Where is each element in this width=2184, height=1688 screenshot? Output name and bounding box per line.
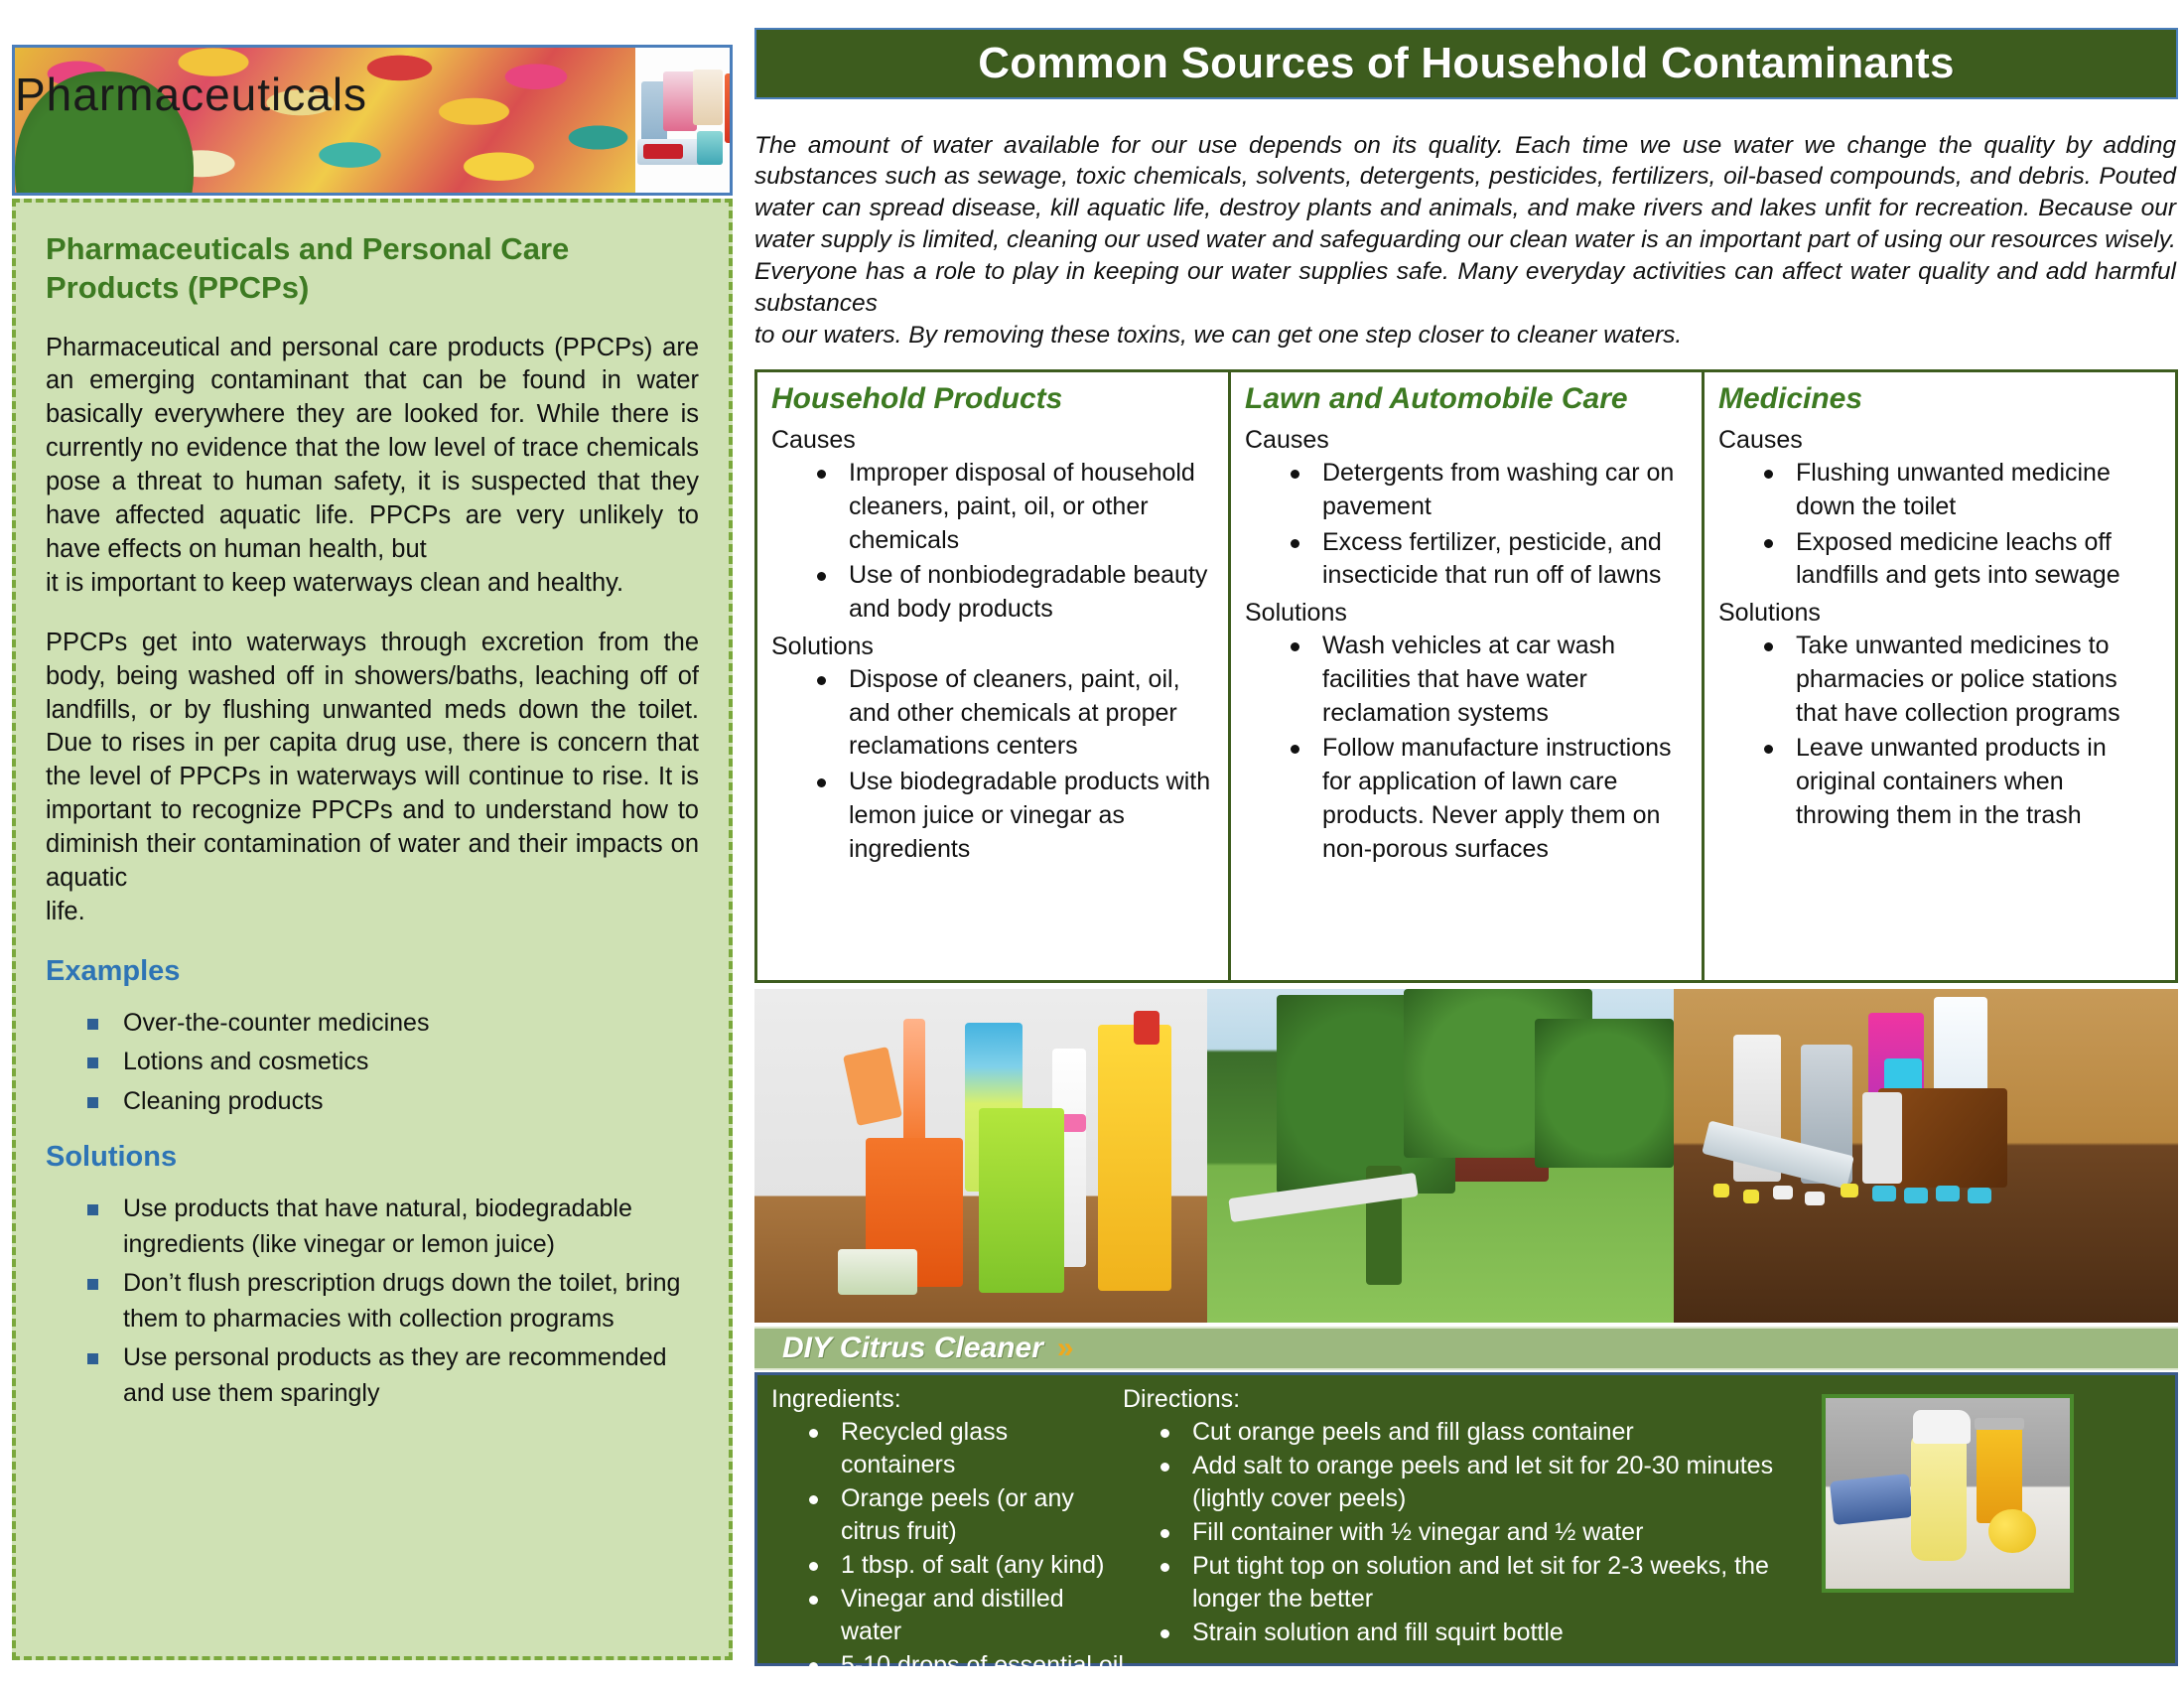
pill-shape [1713,1184,1729,1197]
list-item: Follow manufacture instructions for appl… [1273,732,1690,866]
solutions-list: Use products that have natural, biodegra… [46,1192,699,1411]
yellow-bottle-shape [1098,1025,1171,1291]
causes-label: Causes [1718,426,2163,455]
solutions-list: Wash vehicles at car wash facilities tha… [1245,630,1690,866]
spray-bottle-shape [1911,1434,1967,1561]
list-item: Dispose of cleaners, paint, oil, and oth… [799,663,1216,764]
photo-strip [754,989,2178,1323]
intro-paragraph: The amount of water available for our us… [754,130,2176,352]
examples-heading: Examples [46,955,699,988]
list-item: Orange peels (or any citrus fruit) [793,1482,1129,1548]
tree-shape [1535,1019,1674,1168]
diy-ingredients-column: Ingredients: Recycled glass containers O… [771,1385,1129,1683]
list-item: Use products that have natural, biodegra… [75,1192,699,1262]
orange-bottle-shape [725,73,730,143]
causes-list: Detergents from washing car on pavement … [1245,457,1690,593]
list-item: Use of nonbiodegradable beauty and body … [799,559,1216,627]
green-duster-shape [979,1108,1064,1293]
mason-jar-shape [1977,1424,2022,1523]
list-item: Leave unwanted products in original cont… [1746,732,2163,832]
list-item: Over-the-counter medicines [75,1006,699,1042]
sidebar-paragraph-2-main: PPCPs get into waterways through excreti… [46,629,699,892]
pill-shape [1841,1184,1858,1197]
sidebar-heading: Pharmaceuticals and Personal Care Produc… [46,230,699,308]
banner-title-line1: Pharmaceuticals [15,71,194,193]
list-item: 5-10 drops of essential oil [793,1649,1129,1682]
spray-trigger-shape [1913,1410,1971,1444]
category-title: Medicines [1718,382,2163,416]
list-item: Vinegar and distilled water [793,1583,1129,1648]
list-item: Recycled glass containers [793,1416,1129,1481]
causes-list: Flushing unwanted medicine down the toil… [1718,457,2163,593]
list-item: Excess fertilizer, pesticide, and insect… [1273,526,1690,594]
pills-and-bottles-photo [1674,989,2178,1323]
bottle-cap-shape [1862,1092,1902,1184]
ingredients-label: Ingredients: [771,1385,1129,1414]
diy-header-bar: DIY Citrus Cleaner » [754,1327,2178,1370]
double-chevron-right-icon: » [1057,1332,1072,1365]
list-item: Cleaning products [75,1084,699,1120]
box-shape [663,71,697,131]
list-item: Improper disposal of household cleaners,… [799,457,1216,557]
left-column: Pharmaceuticals and personal care produc… [0,0,743,1688]
pill-shape [1773,1186,1793,1199]
list-item: Detergents from washing car on pavement [1273,457,1690,524]
intro-paragraph-last: to our waters. By removing these toxins,… [754,320,2176,352]
pills-background-image: Pharmaceuticals and personal care produc… [15,48,635,193]
list-item: Take unwanted medicines to pharmacies or… [1746,630,2163,730]
pill-shape [1805,1192,1825,1205]
list-item: Put tight top on solution and let sit fo… [1145,1550,1818,1616]
sidebar-paragraph-1-main: Pharmaceutical and personal care product… [46,334,699,563]
right-column: Common Sources of Household Contaminants… [754,0,2184,1688]
list-item: Wash vehicles at car wash facilities tha… [1273,630,1690,730]
page-title-bar: Common Sources of Household Contaminants [754,28,2178,99]
jar-lid-shape [1975,1418,2024,1430]
list-item: 1 tbsp. of salt (any kind) [793,1549,1129,1582]
page-title: Common Sources of Household Contaminants [978,39,1954,88]
solutions-heading: Solutions [46,1141,699,1174]
sidebar-heading-line2: Products (PPCPs) [46,269,699,308]
intro-paragraph-main: The amount of water available for our us… [754,132,2176,317]
directions-list: Cut orange peels and fill glass containe… [1123,1416,1818,1649]
cloth-shape [843,1047,902,1126]
sidebar-paragraph-1-last: it is important to keep waterways clean … [46,567,699,601]
personal-care-products-photo [635,48,730,193]
blister-pack-shape [1936,1186,1960,1201]
solutions-label: Solutions [1718,599,2163,628]
lemon-shape [1988,1509,2036,1553]
ppcp-banner: Pharmaceuticals and personal care produc… [12,45,733,196]
blister-pack-shape [1872,1186,1896,1201]
examples-list: Over-the-counter medicines Lotions and c… [46,1006,699,1120]
causes-list: Improper disposal of household cleaners,… [771,457,1216,627]
lotion-shape [693,70,723,125]
list-item: Use biodegradable products with lemon ju… [799,766,1216,866]
diy-citrus-cleaner-photo [1822,1394,2074,1593]
spray-bottle-shape [903,1019,925,1148]
list-item: Lotions and cosmetics [75,1045,699,1080]
solutions-label: Solutions [1245,599,1690,628]
list-item: Fill container with ½ vinegar and ½ wate… [1145,1516,1818,1549]
category-column-medicines: Medicines Causes Flushing unwanted medic… [1705,372,2175,980]
solutions-label: Solutions [771,633,1216,661]
toothpaste-label-shape [643,144,683,159]
ingredients-list: Recycled glass containers Orange peels (… [771,1416,1129,1682]
mouthwash-shape [697,131,723,165]
list-item: Use personal products as they are recomm… [75,1340,699,1411]
sidebar-heading-line1: Pharmaceuticals and Personal Care [46,231,569,266]
sidebar-paragraph-1: Pharmaceutical and personal care product… [46,332,699,601]
directions-label: Directions: [1123,1385,1818,1414]
category-title: Lawn and Automobile Care [1245,382,1690,416]
list-item: Add salt to orange peels and let sit for… [1145,1450,1818,1515]
house-with-lawn-photo [1207,989,1674,1323]
causes-label: Causes [1245,426,1690,455]
pill-shape [1743,1190,1759,1203]
red-cap-shape [1134,1011,1160,1045]
list-item: Flushing unwanted medicine down the toil… [1746,457,2163,524]
category-title: Household Products [771,382,1216,416]
diy-directions-column: Directions: Cut orange peels and fill gl… [1123,1385,1818,1650]
solutions-list: Dispose of cleaners, paint, oil, and oth… [771,663,1216,867]
sidebar-paragraph-2-last: life. [46,896,699,929]
blister-pack-shape [1904,1188,1928,1203]
category-column-lawn-and-automobile-care: Lawn and Automobile Care Causes Detergen… [1231,372,1705,980]
causes-label: Causes [771,426,1216,455]
ppcp-sidebar-panel: Pharmaceuticals and Personal Care Produc… [12,199,733,1660]
blue-cloth-shape [1830,1474,1913,1525]
scrub-brush-shape [838,1249,917,1295]
solutions-list: Take unwanted medicines to pharmacies or… [1718,630,2163,833]
cleaning-supplies-photo [754,989,1207,1323]
list-item: Exposed medicine leachs off landfills an… [1746,526,2163,594]
categories-table: Household Products Causes Improper dispo… [754,369,2178,983]
diy-title: DIY Citrus Cleaner [782,1332,1043,1365]
blister-pack-shape [1968,1188,1991,1203]
category-column-household-products: Household Products Causes Improper dispo… [757,372,1231,980]
sidebar-paragraph-2: PPCPs get into waterways through excreti… [46,627,699,929]
banner-title: Pharmaceuticals and personal care produc… [15,71,635,193]
list-item: Cut orange peels and fill glass containe… [1145,1416,1818,1449]
list-item: Don’t flush prescription drugs down the … [75,1266,699,1336]
list-item: Strain solution and fill squirt bottle [1145,1617,1818,1649]
